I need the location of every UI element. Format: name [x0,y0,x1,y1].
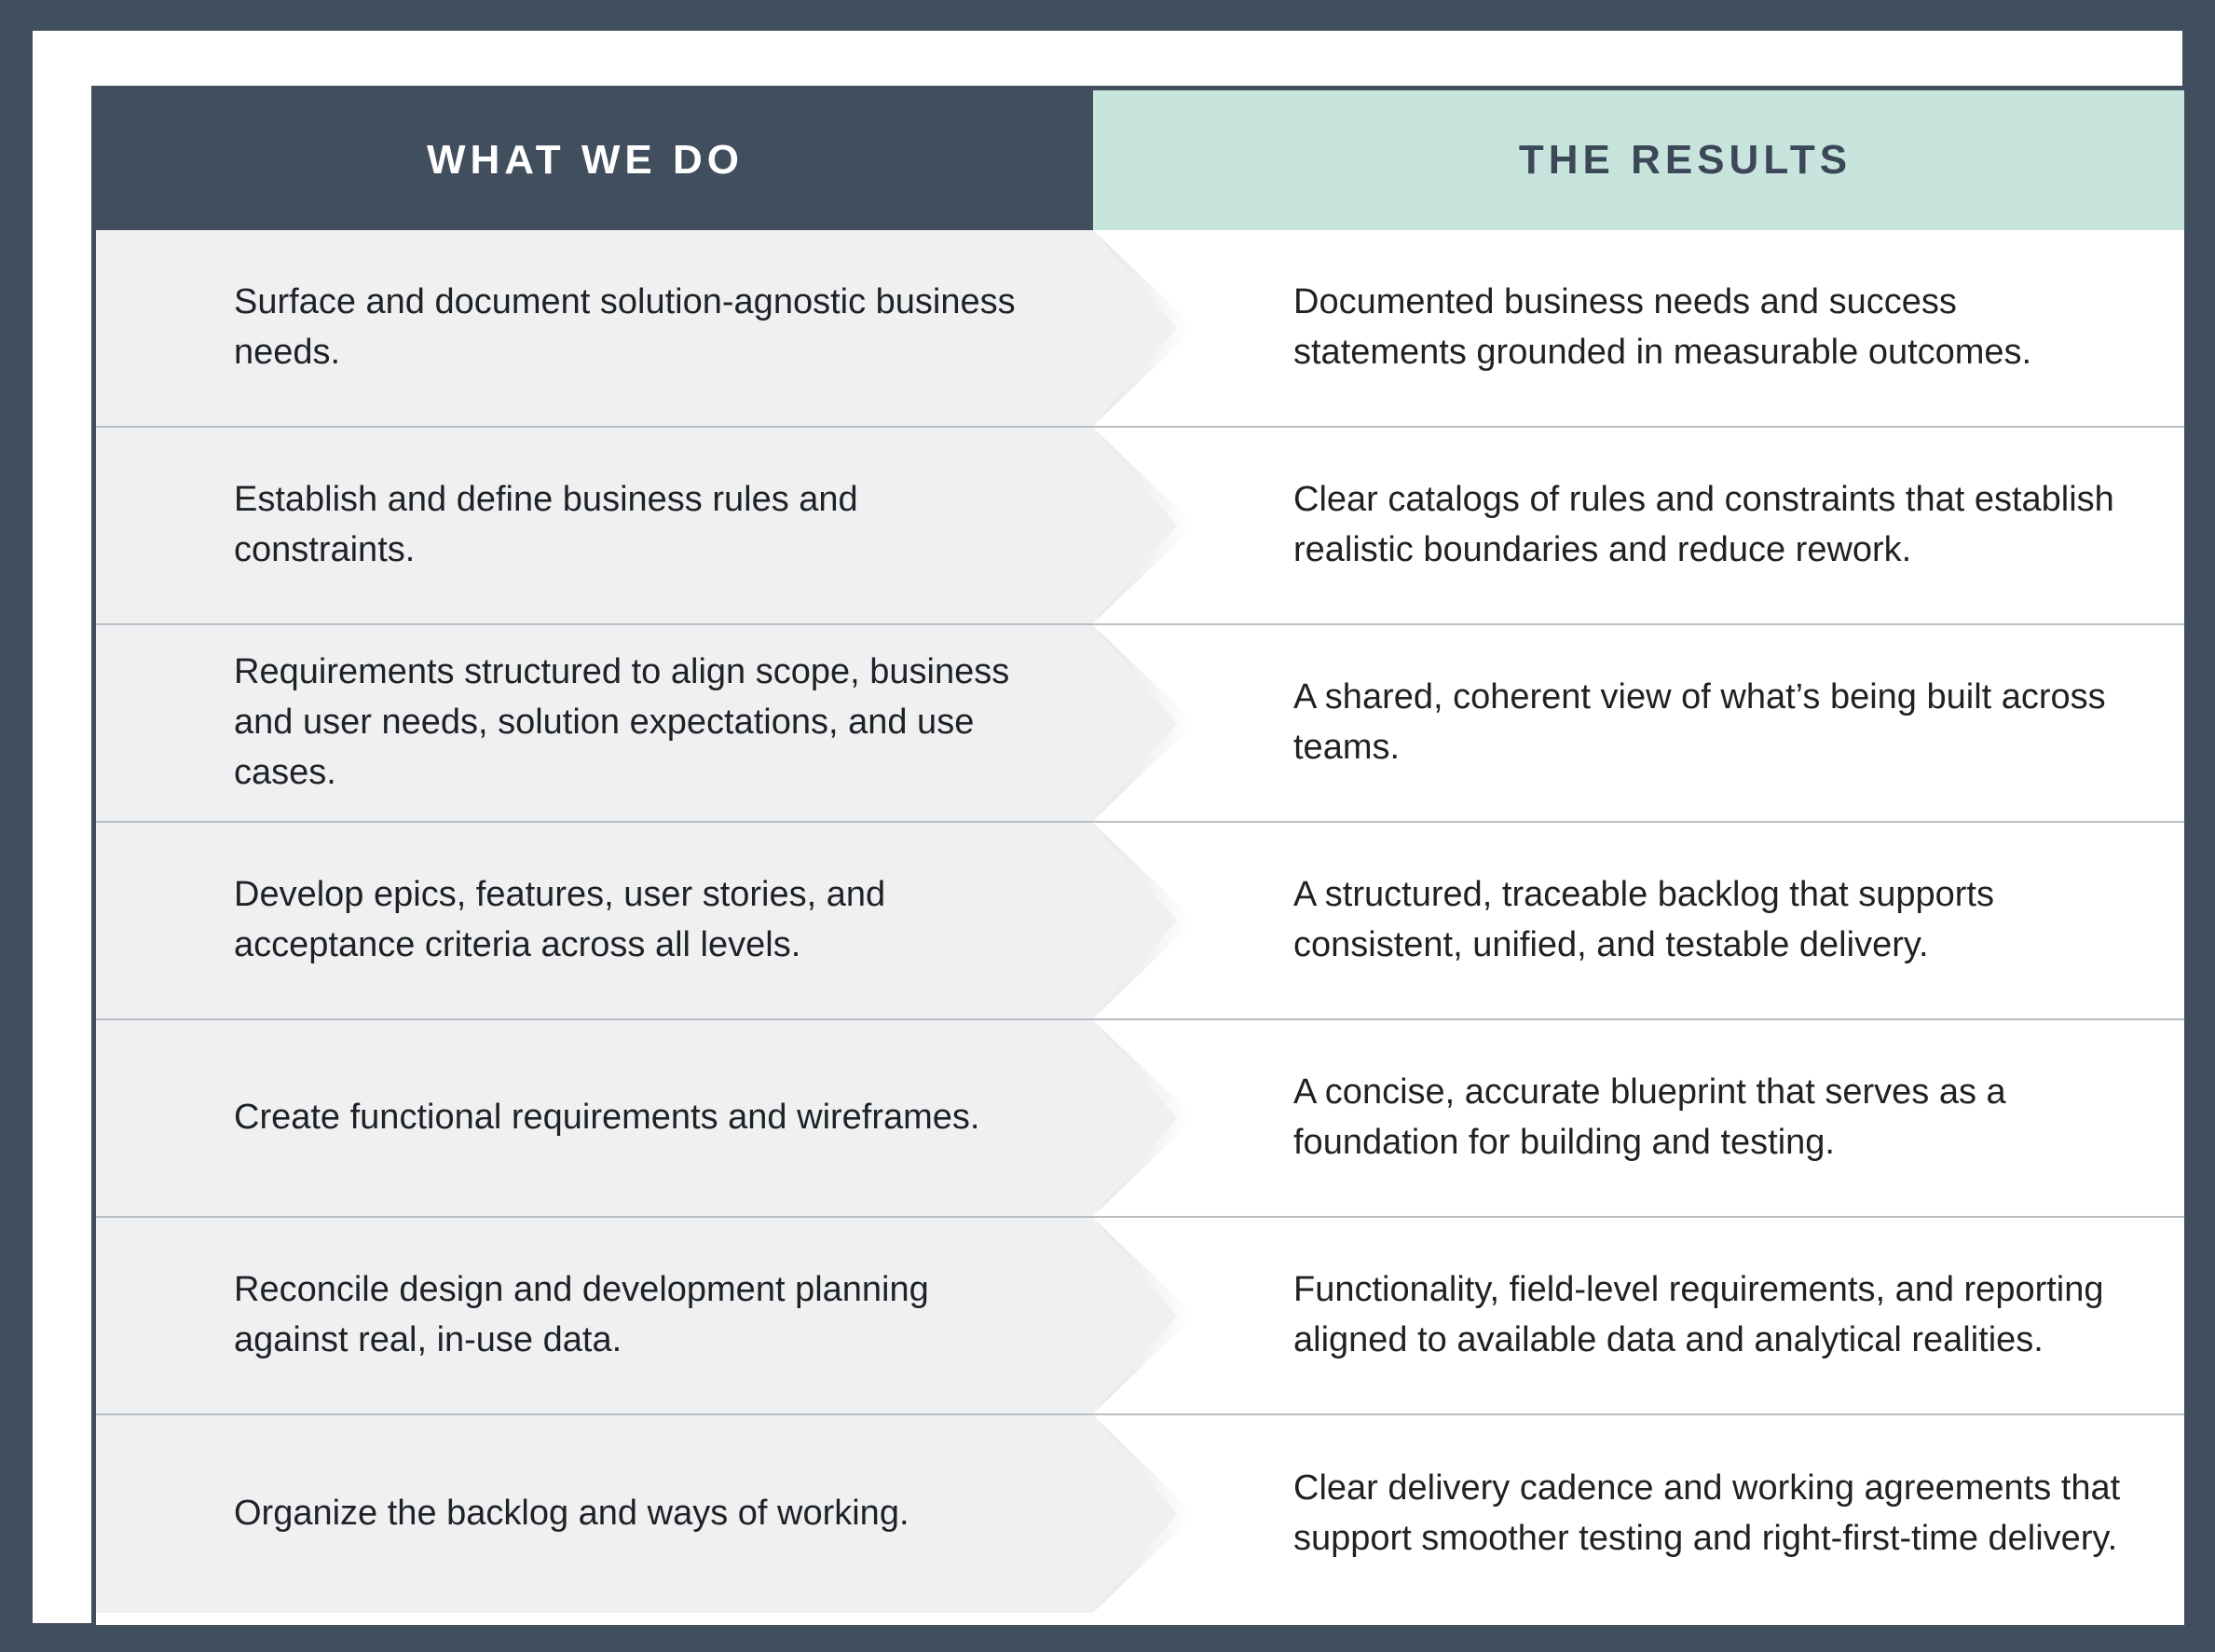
table-row: Organize the backlog and ways of working… [96,1415,2184,1613]
cell-the-results: Clear delivery cadence and working agree… [1177,1415,2184,1613]
cell-what-we-do: Create functional requirements and wiref… [96,1020,1177,1216]
cell-what-we-do: Requirements structured to align scope, … [96,625,1177,821]
cell-what-we-do: Develop epics, features, user stories, a… [96,823,1177,1018]
table-row: Develop epics, features, user stories, a… [96,823,2184,1020]
outer-frame: WHAT WE DO THE RESULTS Surface and docum… [0,0,2215,1652]
cell-the-results: A structured, traceable backlog that sup… [1177,823,2184,1018]
table-header-row: WHAT WE DO THE RESULTS [96,90,2184,230]
cell-what-we-do: Surface and document solution-agnostic b… [96,230,1177,426]
cell-the-results-text: Clear delivery cadence and working agree… [1177,1464,2184,1564]
cell-what-we-do-text: Surface and document solution-agnostic b… [96,278,1177,378]
cell-the-results-text: Documented business needs and success st… [1177,278,2184,378]
table-row: Requirements structured to align scope, … [96,625,2184,823]
cell-what-we-do-text: Organize the backlog and ways of working… [96,1489,1068,1539]
table-row: Create functional requirements and wiref… [96,1020,2184,1218]
comparison-table: WHAT WE DO THE RESULTS Surface and docum… [91,86,2189,1630]
cell-what-we-do-text: Establish and define business rules and … [96,475,1177,576]
table-body: Surface and document solution-agnostic b… [96,230,2184,1613]
cell-what-we-do: Establish and define business rules and … [96,428,1177,623]
cell-what-we-do: Reconcile design and development plannin… [96,1218,1177,1413]
table-row: Reconcile design and development plannin… [96,1218,2184,1415]
cell-the-results: A shared, coherent view of what’s being … [1177,625,2184,821]
header-label-the-results: THE RESULTS [1519,137,1852,184]
white-mat: WHAT WE DO THE RESULTS Surface and docum… [33,31,2182,1623]
cell-what-we-do-text: Create functional requirements and wiref… [96,1093,1139,1143]
cell-the-results-text: A concise, accurate blueprint that serve… [1177,1068,2184,1168]
cell-the-results-text: Clear catalogs of rules and constraints … [1177,475,2184,576]
cell-what-we-do-text: Develop epics, features, user stories, a… [96,870,1177,971]
header-cell-the-results: THE RESULTS [1093,90,2184,230]
cell-the-results-text: A shared, coherent view of what’s being … [1177,673,2184,773]
table-row: Establish and define business rules and … [96,428,2184,625]
cell-the-results-text: A structured, traceable backlog that sup… [1177,870,2184,971]
cell-what-we-do: Organize the backlog and ways of working… [96,1415,1177,1613]
header-label-what-we-do: WHAT WE DO [427,137,744,184]
table-row: Surface and document solution-agnostic b… [96,230,2184,428]
cell-the-results-text: Functionality, field-level requirements,… [1177,1265,2184,1366]
cell-what-we-do-text: Reconcile design and development plannin… [96,1265,1177,1366]
cell-the-results: Documented business needs and success st… [1177,230,2184,426]
header-cell-what-we-do: WHAT WE DO [96,90,1177,230]
cell-the-results: A concise, accurate blueprint that serve… [1177,1020,2184,1216]
cell-what-we-do-text: Requirements structured to align scope, … [96,648,1177,799]
cell-the-results: Clear catalogs of rules and constraints … [1177,428,2184,623]
cell-the-results: Functionality, field-level requirements,… [1177,1218,2184,1413]
